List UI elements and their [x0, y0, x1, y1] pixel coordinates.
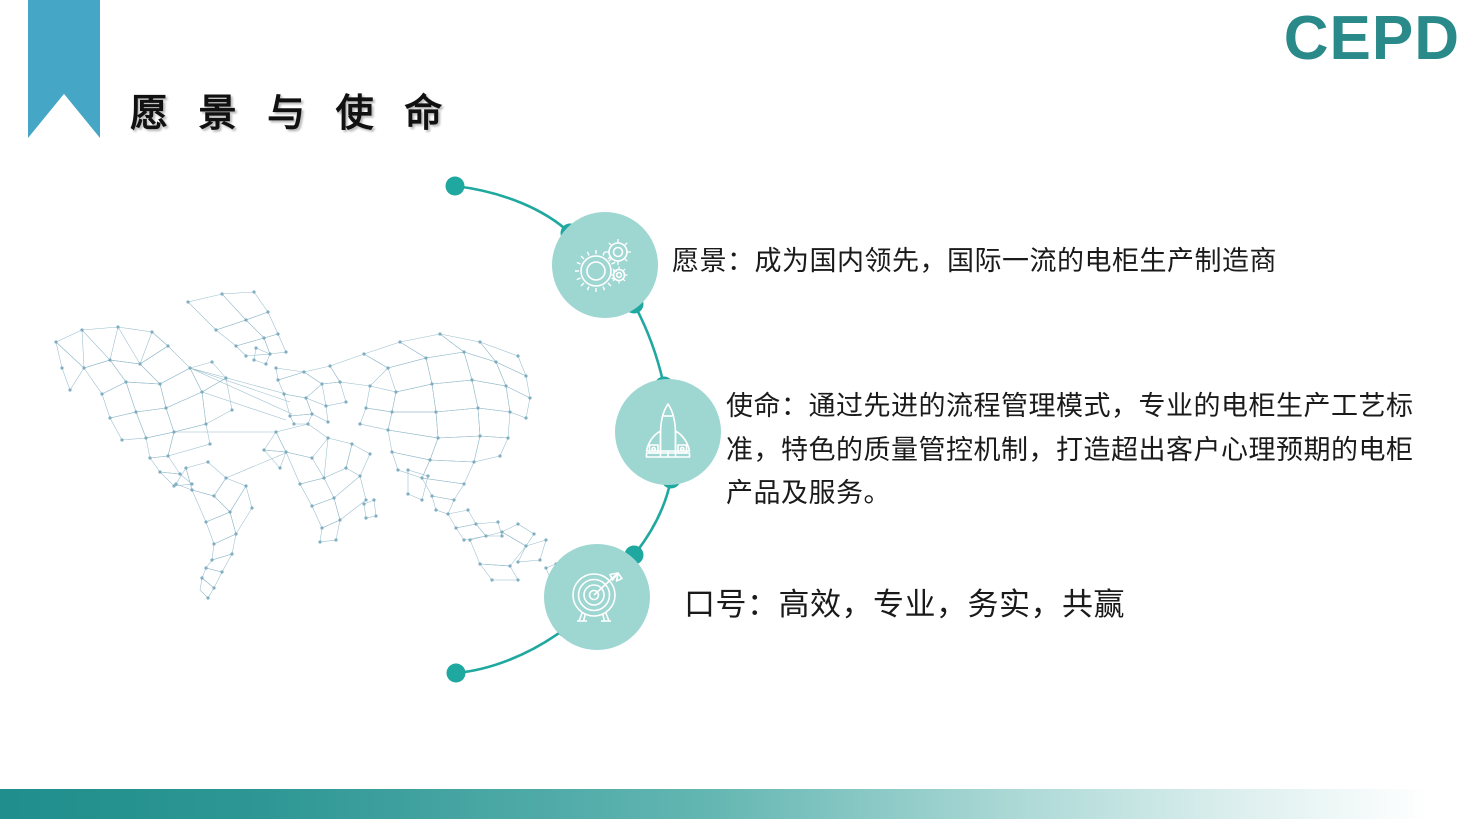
connector-mid-upper: [634, 304, 664, 386]
gears-icon: [574, 237, 636, 293]
footer-gradient-bar: [0, 789, 1472, 819]
connector-bottom: [456, 628, 566, 673]
connector-top: [455, 186, 570, 233]
target-icon: [566, 567, 628, 627]
cepd-logo: CEPD: [1284, 8, 1460, 70]
slogan-statement: 口号：高效，专业，务实，共赢: [684, 580, 1384, 630]
ribbon-bookmark-shape: [28, 0, 100, 138]
rocket-icon: [639, 401, 697, 463]
node-circle-mission[interactable]: [615, 379, 721, 485]
connector-mid-lower: [634, 479, 671, 555]
endpoint-dot-top: [446, 177, 465, 196]
world-map-graphic: [40, 272, 580, 612]
mission-statement: 使命：通过先进的流程管理模式，专业的电柜生产工艺标准，特色的质量管控机制，打造超…: [726, 385, 1432, 516]
node-circle-slogan[interactable]: [544, 544, 650, 650]
vision-statement: 愿景：成为国内领先，国际一流的电柜生产制造商: [672, 240, 1432, 284]
page-title: 愿 景 与 使 命: [130, 82, 452, 137]
slide-canvas: 愿 景 与 使 命 CEPD: [0, 0, 1472, 826]
node-circle-vision[interactable]: [552, 212, 658, 318]
endpoint-dot-bottom: [447, 664, 466, 683]
